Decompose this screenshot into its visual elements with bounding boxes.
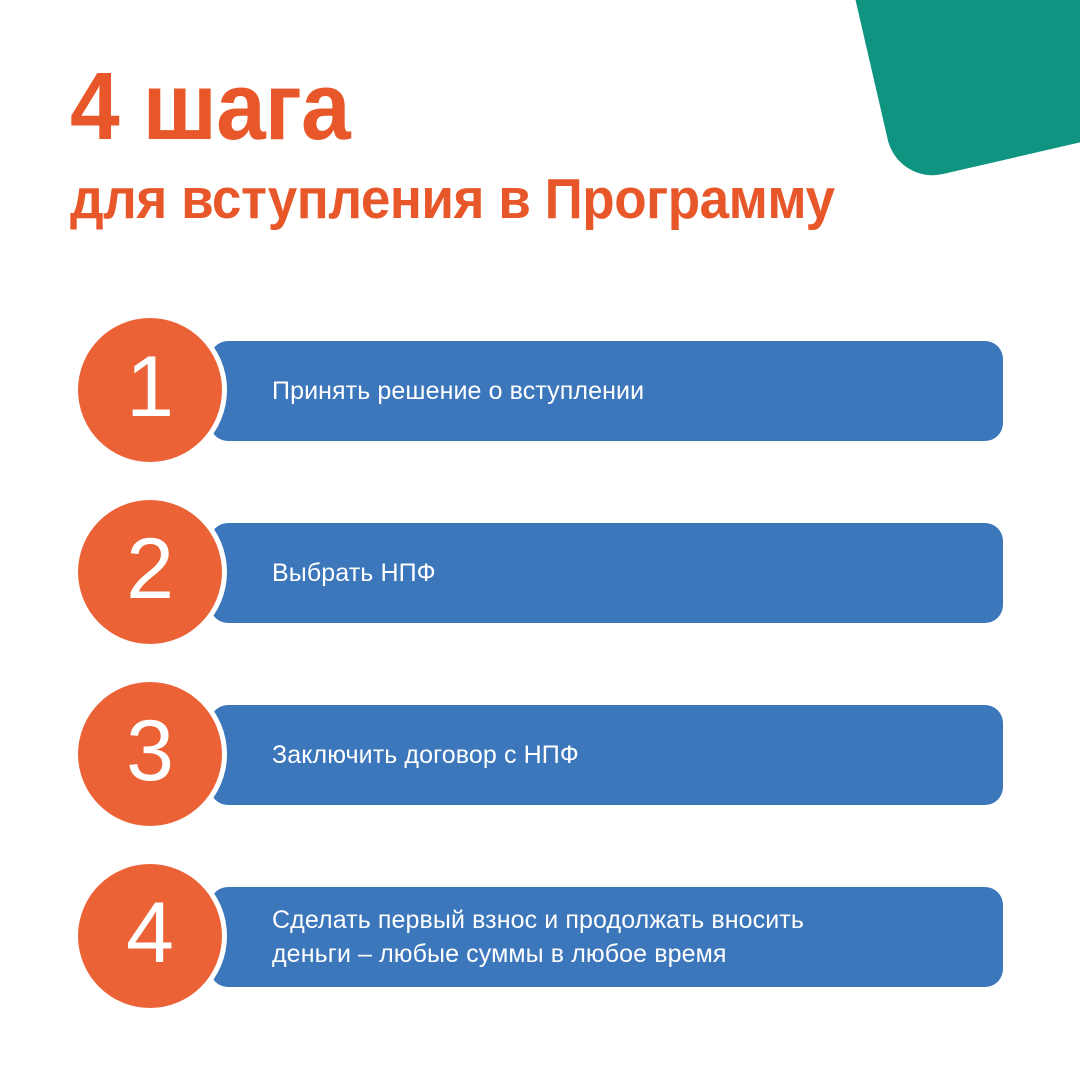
step-badge-2: 2 [78,500,222,644]
step-number-1: 1 [126,344,174,430]
step-row-3: Заключить договор с НПФ 3 [0,682,1080,826]
step-label-1: Принять решение о вступлении [272,374,644,408]
step-label-2: Выбрать НПФ [272,556,436,590]
step-bar-1: Принять решение о вступлении [210,341,1003,441]
step-row-4: Сделать первый взнос и продолжать вносит… [0,864,1080,1008]
step-badge-1: 1 [78,318,222,462]
step-badge-4: 4 [78,864,222,1008]
headline-block: 4 шага для вступления в Программу [70,58,970,230]
step-number-3: 3 [126,708,174,794]
step-bar-4: Сделать первый взнос и продолжать вносит… [210,887,1003,987]
step-number-4: 4 [126,890,174,976]
step-label-3: Заключить договор с НПФ [272,738,579,772]
steps-list: Принять решение о вступлении 1 Выбрать Н… [0,318,1080,1008]
page-title: 4 шага [70,58,907,156]
step-bar-3: Заключить договор с НПФ [210,705,1003,805]
step-row-1: Принять решение о вступлении 1 [0,318,1080,462]
poster-canvas: 4 шага для вступления в Программу Принят… [0,0,1080,1080]
step-bar-2: Выбрать НПФ [210,523,1003,623]
step-number-2: 2 [126,526,174,612]
step-badge-3: 3 [78,682,222,826]
page-subtitle: для вступления в Программу [70,170,907,230]
step-label-4: Сделать первый взнос и продолжать вносит… [272,903,804,971]
step-row-2: Выбрать НПФ 2 [0,500,1080,644]
